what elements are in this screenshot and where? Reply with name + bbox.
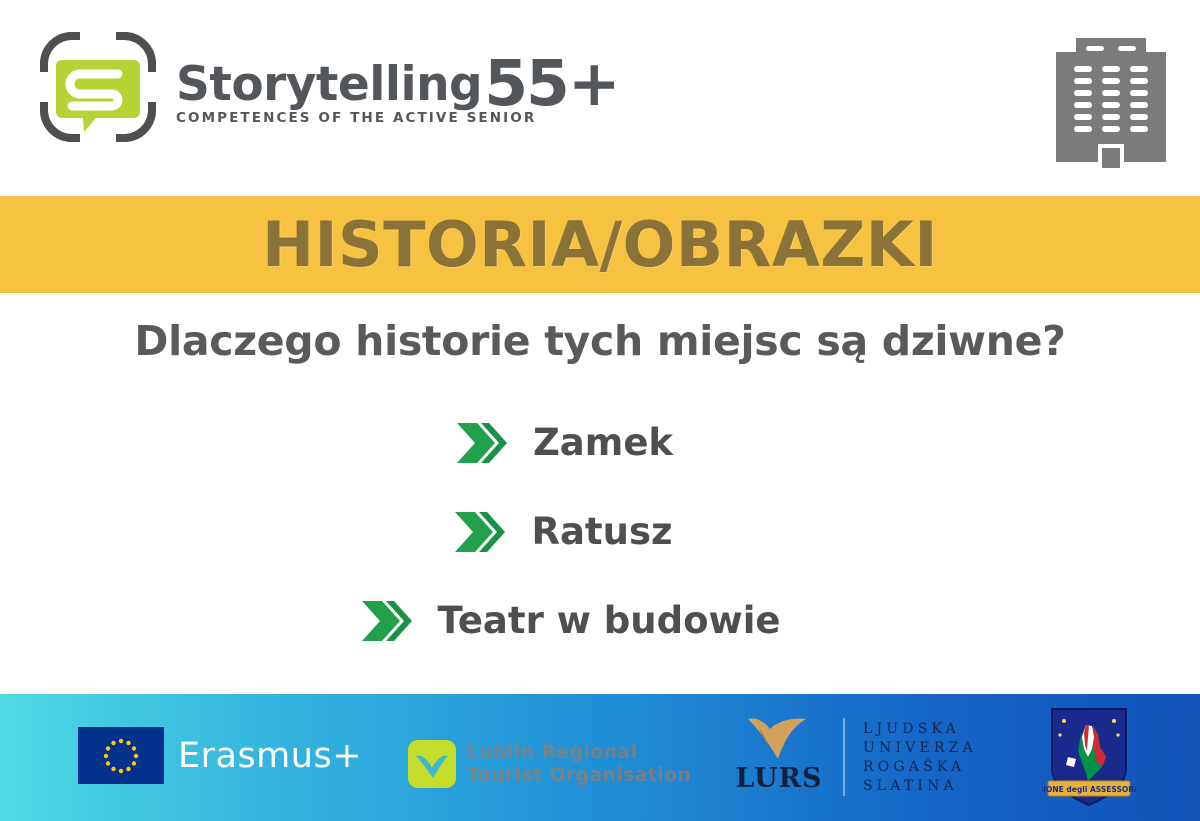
unione-assessorati-shield-logo: UNIONE degli ASSESSORATI: [1042, 701, 1136, 813]
office-building-icon: [1050, 22, 1172, 168]
green-chevron-arrow-icon: [455, 419, 511, 467]
list-item-label: Zamek: [533, 421, 673, 464]
eu-flag-icon: [78, 727, 164, 784]
shield-ribbon-text: UNIONE degli ASSESSORATI: [1042, 785, 1136, 794]
list-item: Ratusz: [0, 487, 1200, 576]
lu-line-1: LJUDSKA: [863, 722, 977, 736]
green-chevron-arrow-icon: [453, 508, 509, 556]
list-item: Teatr w budowie: [0, 576, 1200, 665]
erasmus-plus-logo: Erasmus+: [78, 727, 362, 784]
page-title: HISTORIA/OBRAZKI: [262, 208, 938, 281]
lurs-label: LURS: [736, 763, 823, 794]
slide-root: Storytelling 55+ COMPETENCES OF THE ACTI…: [0, 0, 1200, 821]
bullet-list: Zamek Ratusz Teatr w b: [0, 398, 1200, 665]
title-banner: HISTORIA/OBRAZKI: [0, 196, 1200, 293]
slide-body: Dlaczego historie tych miejsc są dziwne?…: [0, 293, 1200, 694]
brand-wordmark: Storytelling 55+ COMPETENCES OF THE ACTI…: [176, 48, 619, 127]
lurs-divider: [843, 718, 845, 796]
list-item-label: Teatr w budowie: [438, 599, 781, 642]
storytelling-brand-logo: Storytelling 55+ COMPETENCES OF THE ACTI…: [36, 28, 619, 146]
ljudska-univerza-label: LJUDSKA UNIVERZA ROGAŠKA SLATINA: [863, 722, 977, 793]
erasmus-plus-label: Erasmus+: [178, 736, 362, 776]
lu-line-2: UNIVERZA: [863, 741, 977, 755]
lublin-regional-tourist-organisation-logo: Lublin Regional Tourist Organisation: [408, 740, 691, 788]
slide-footer: Erasmus+ Lublin Regional Tourist Organis…: [0, 694, 1200, 821]
lurs-v-icon: [744, 715, 814, 761]
slide-header: Storytelling 55+ COMPETENCES OF THE ACTI…: [0, 0, 1200, 196]
brand-age-suffix: 55+: [484, 56, 618, 113]
lu-line-3: ROGAŠKA: [863, 760, 977, 774]
lrot-label-line2: Tourist Organisation: [467, 766, 691, 785]
brand-title: Storytelling: [176, 62, 482, 108]
list-item-label: Ratusz: [531, 510, 672, 553]
lrot-label-line1: Lublin Regional: [467, 743, 691, 762]
lrot-check-bird-icon: [408, 740, 456, 788]
lurs-logo: LURS LJUDSKA UNIVERZA ROGAŠKA SLATINA: [733, 712, 977, 796]
lu-line-4: SLATINA: [863, 779, 977, 793]
speech-bubble-s-logo-icon: [36, 28, 160, 146]
green-chevron-arrow-icon: [360, 597, 416, 645]
list-item: Zamek: [0, 398, 1200, 487]
subtitle-question: Dlaczego historie tych miejsc są dziwne?: [0, 317, 1200, 365]
